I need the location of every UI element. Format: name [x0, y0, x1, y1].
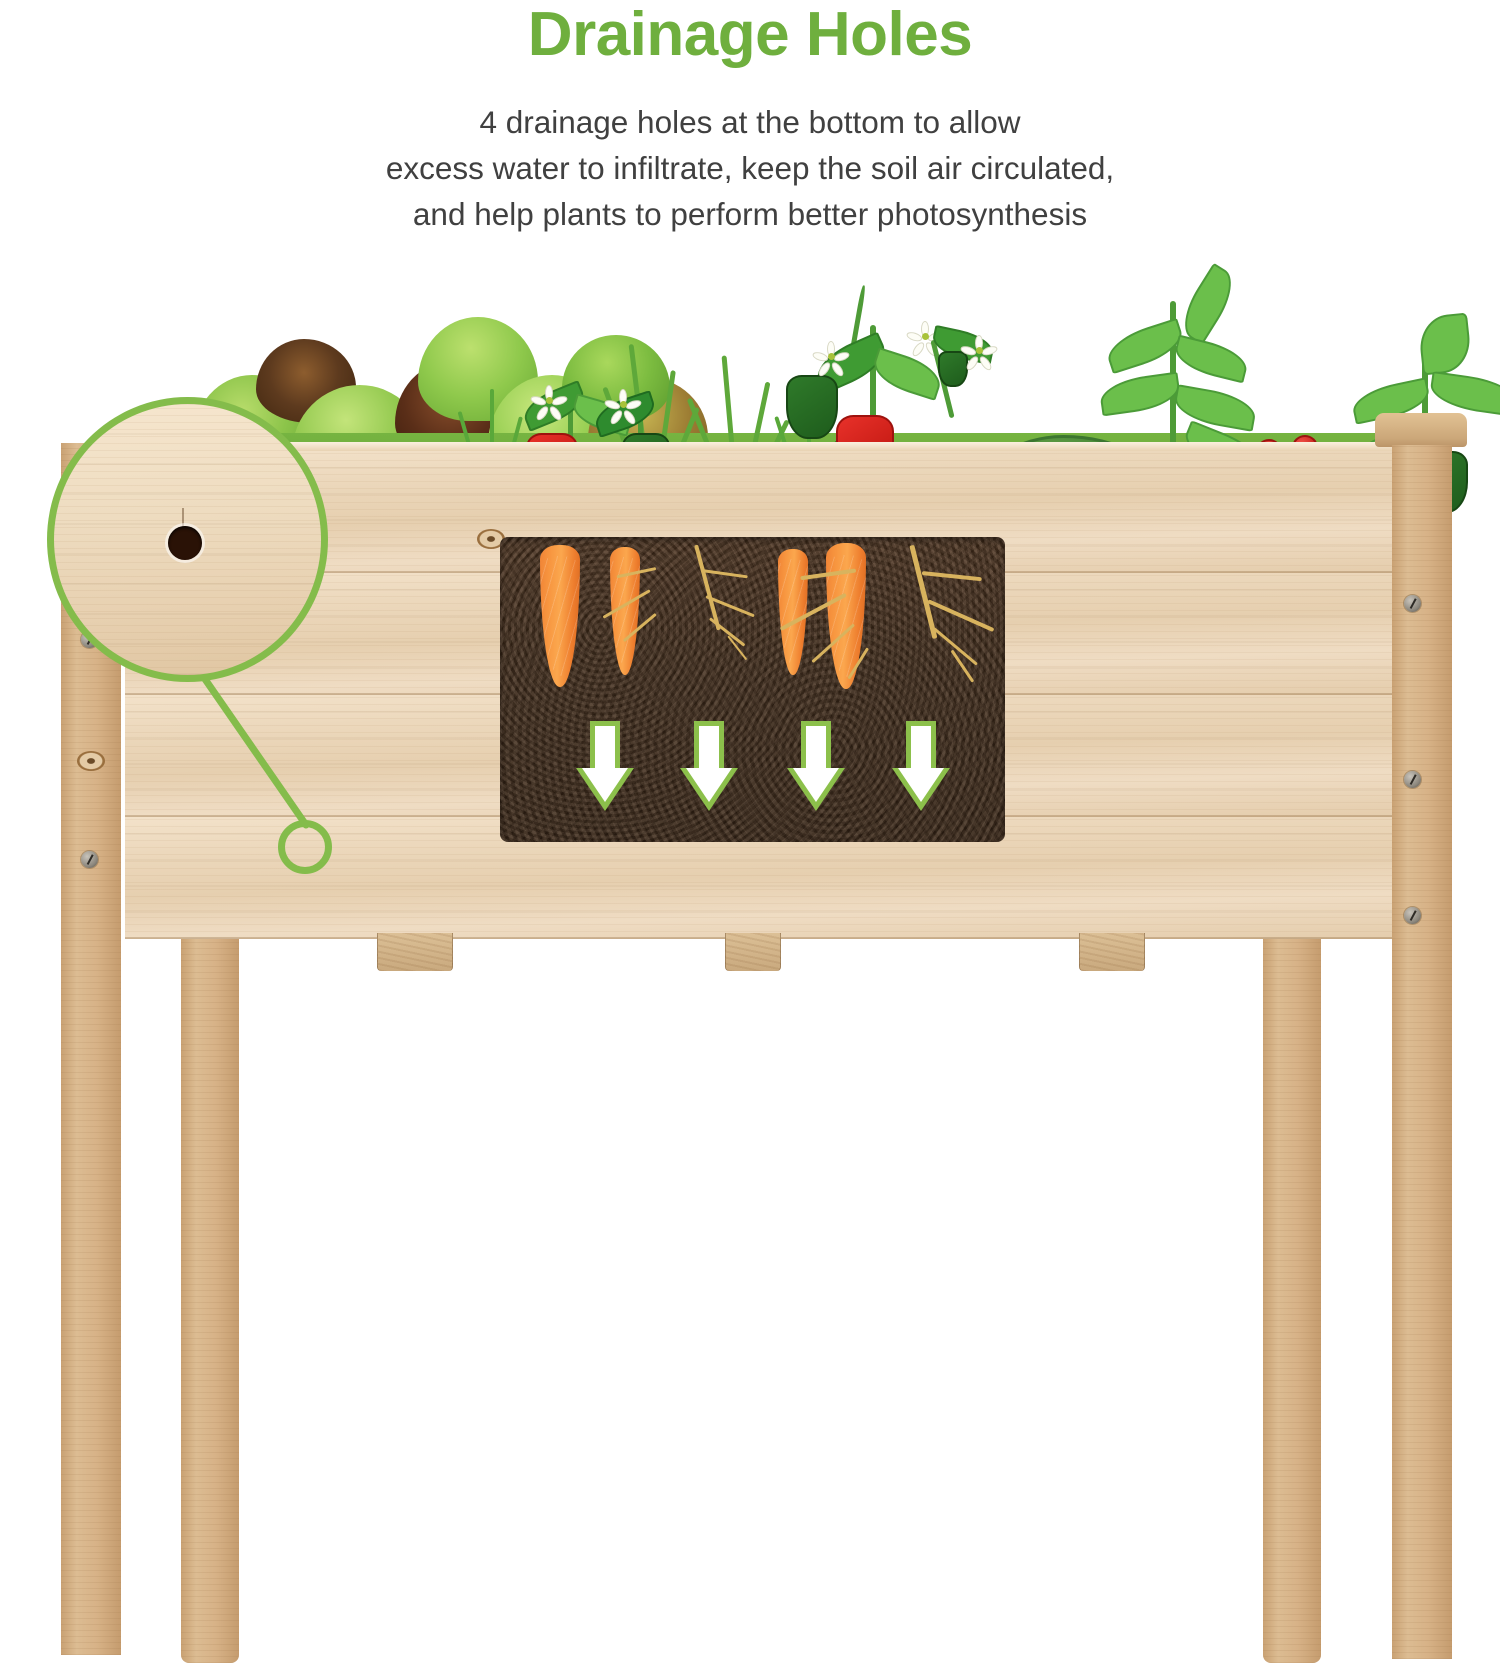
subtitle-line-2: excess water to infiltrate, keep the soi… — [0, 146, 1500, 192]
support-tab — [1079, 933, 1145, 971]
green-bell-pepper-small — [938, 351, 968, 387]
tomato-leaf — [1171, 335, 1251, 384]
product-illustration — [0, 265, 1500, 1434]
page-subtitle: 4 drainage holes at the bottom to allow … — [0, 100, 1500, 238]
carrot — [540, 545, 580, 687]
right-corner-post — [1392, 445, 1452, 1659]
pepper-leaf — [1417, 313, 1473, 376]
drainage-hole-callout — [40, 397, 370, 897]
pepper-blossom — [966, 337, 992, 363]
soil-cross-section — [500, 537, 1005, 842]
root-system — [696, 543, 806, 653]
carrot — [826, 543, 866, 689]
drainage-arrow — [576, 721, 634, 811]
support-tab — [725, 933, 781, 971]
callout-target-ring — [278, 820, 332, 874]
page-title: Drainage Holes — [0, 0, 1500, 66]
subtitle-line-3: and help plants to perform better photos… — [0, 192, 1500, 238]
root-system — [912, 543, 1005, 671]
screw — [1404, 595, 1421, 612]
drainage-arrow — [892, 721, 950, 811]
pepper-blossom — [818, 343, 844, 369]
subtitle-line-1: 4 drainage holes at the bottom to allow — [0, 100, 1500, 146]
pepper-blossom — [536, 387, 562, 413]
drainage-arrow — [680, 721, 738, 811]
drill-mark — [182, 508, 184, 528]
tomato-leaf — [1172, 384, 1259, 432]
pepper-blossom — [610, 391, 636, 417]
header: Drainage Holes 4 drainage holes at the b… — [0, 0, 1500, 265]
screw — [1404, 907, 1421, 924]
screw — [1404, 771, 1421, 788]
support-tab — [377, 933, 453, 971]
drainage-hole-icon — [168, 526, 202, 560]
magnified-view — [47, 397, 328, 682]
pepper-leaf — [1428, 371, 1500, 417]
post-cap — [1375, 413, 1467, 447]
drainage-arrow — [787, 721, 845, 811]
front-right-leg — [1263, 939, 1321, 1663]
front-left-leg — [181, 939, 239, 1663]
tomato-leaf — [1173, 263, 1242, 345]
green-bell-pepper — [786, 375, 838, 439]
